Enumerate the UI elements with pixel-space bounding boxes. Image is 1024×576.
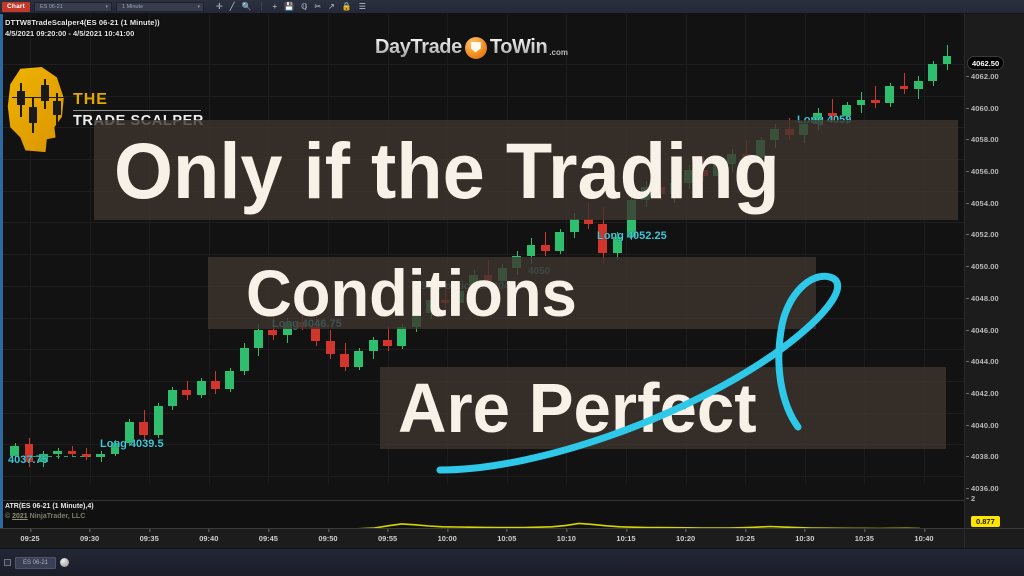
- atr-scale-label: 2: [971, 494, 975, 503]
- price-tick-label: 4048.00: [971, 294, 999, 303]
- candle-wick: [875, 86, 876, 108]
- copyright-year: 2021: [12, 513, 28, 520]
- candle-body: [240, 348, 249, 372]
- gridline-vertical: [328, 14, 329, 484]
- chevron-down-icon: ▾: [197, 4, 200, 10]
- candle-body: [225, 371, 234, 388]
- time-tick-label: 10:20: [676, 534, 695, 543]
- candle-body: [555, 232, 564, 251]
- cut-icon[interactable]: ✂: [314, 3, 321, 11]
- toolbar-icon-group: ✛ ╱ 🔍 + 💾 ℚ ✂ ↗ 🔒 ☰: [216, 2, 366, 11]
- candle-body: [154, 406, 163, 435]
- time-tick-label: 09:30: [80, 534, 99, 543]
- price-tick-label: 4054.00: [971, 199, 999, 208]
- price-tick-label: 4052.00: [971, 230, 999, 239]
- price-tick-label: 4056.00: [971, 167, 999, 176]
- price-tick-label: 4060.00: [971, 104, 999, 113]
- chart-left-edge-highlight: [0, 14, 3, 528]
- time-tick-label: 10:00: [438, 534, 457, 543]
- time-tick-label: 10:15: [616, 534, 635, 543]
- candle-body: [928, 64, 937, 81]
- candle-body: [340, 354, 349, 367]
- time-tick-label: 10:35: [855, 534, 874, 543]
- window-icon[interactable]: [4, 559, 11, 566]
- trade-signal-label: Long 4052.25: [597, 230, 667, 242]
- overlay-banner-line2: Conditions: [208, 257, 816, 329]
- status-indicator-icon: [60, 558, 69, 567]
- candle-body: [900, 86, 909, 89]
- overlay-text-line1: Only if the Trading: [114, 131, 780, 210]
- price-tick-label: 4040.00: [971, 421, 999, 430]
- time-tick-label: 10:25: [736, 534, 755, 543]
- price-tick-label: 4044.00: [971, 357, 999, 366]
- candle-body: [68, 451, 77, 454]
- time-tick-label: 09:40: [199, 534, 218, 543]
- copyright-suffix: NinjaTrader, LLC: [28, 513, 86, 520]
- price-tick-label: 4036.00: [971, 484, 999, 493]
- instrument-selector[interactable]: ES 06-21 ▾: [34, 2, 112, 12]
- instrument-selector-value: ES 06-21: [40, 4, 63, 10]
- daytradetowin-logo: DayTrade ToWin .com: [375, 36, 568, 59]
- chart-tab[interactable]: Chart: [2, 2, 30, 12]
- candle-wick: [904, 73, 905, 94]
- logo-divider: [73, 110, 201, 111]
- overlay-banner-line3: Are Perfect: [380, 367, 946, 449]
- time-axis[interactable]: 09:2509:3009:3509:4009:4509:5009:5510:00…: [0, 528, 964, 548]
- atr-indicator-panel: ATR(ES 06-21 (1 Minute),4) © 2021 NinjaT…: [0, 500, 964, 528]
- candle-body: [541, 245, 550, 251]
- candle-body: [383, 340, 392, 346]
- candle-body: [197, 381, 206, 395]
- interval-selector[interactable]: 1 Minute ▾: [116, 2, 204, 12]
- logo-trend-line: [12, 97, 68, 98]
- logo-candle-body: [17, 91, 25, 105]
- time-tick-label: 10:40: [914, 534, 933, 543]
- price-axis[interactable]: 4062.004060.004058.004056.004054.004052.…: [964, 14, 1024, 528]
- trend-icon[interactable]: ↗: [328, 3, 335, 11]
- save-icon[interactable]: 💾: [284, 3, 294, 11]
- gridline-vertical: [209, 14, 210, 484]
- chart-title: DTTW8TradeScalper4(ES 06-21 (1 Minute)): [5, 17, 160, 28]
- atr-line-series: [0, 501, 964, 528]
- head-silhouette-icon: [4, 67, 67, 153]
- price-tick-label: 4038.00: [971, 452, 999, 461]
- candle-body: [914, 81, 923, 89]
- time-tick-label: 09:35: [140, 534, 159, 543]
- logo-candle-body: [41, 85, 49, 101]
- logo-candle-body: [53, 101, 61, 115]
- list-icon[interactable]: ☰: [359, 3, 366, 11]
- chart-toolbar: Chart ES 06-21 ▾ 1 Minute ▾ ✛ ╱ 🔍 + 💾 ℚ …: [0, 0, 1024, 14]
- candle-body: [254, 330, 263, 347]
- chart-application: Chart ES 06-21 ▾ 1 Minute ▾ ✛ ╱ 🔍 + 💾 ℚ …: [0, 0, 1024, 576]
- line-tool-icon[interactable]: ╱: [230, 3, 235, 11]
- candle-body: [168, 390, 177, 406]
- atr-last-value-badge: 0.877: [971, 516, 1000, 527]
- price-tick-label: 4050.00: [971, 262, 999, 271]
- candle-body: [53, 451, 62, 454]
- lock-icon[interactable]: 🔒: [342, 3, 352, 11]
- overlay-text-line3: Are Perfect: [398, 373, 757, 443]
- candle-body: [211, 381, 220, 389]
- price-tick-label: 4058.00: [971, 135, 999, 144]
- logo-the-text: THE: [73, 91, 204, 108]
- status-bar: ES 06-21: [0, 548, 1024, 576]
- time-tick-label: 09:50: [318, 534, 337, 543]
- candle-body: [885, 86, 894, 103]
- shield-icon: [465, 37, 487, 59]
- axis-corner: [964, 528, 1024, 548]
- brand-towin-text: ToWin: [490, 36, 547, 59]
- toolbar-divider: [261, 2, 262, 11]
- overlay-banner-line1: Only if the Trading: [94, 120, 958, 220]
- candle-body: [857, 100, 866, 105]
- candle-body: [182, 390, 191, 395]
- time-tick-label: 10:05: [497, 534, 516, 543]
- chart-date-range: 4/5/2021 09:20:00 - 4/5/2021 10:41:00: [5, 28, 134, 39]
- atr-panel-label: ATR(ES 06-21 (1 Minute),4): [5, 503, 94, 510]
- price-tick-label: 4062.00: [971, 72, 999, 81]
- trade-signal-label: 4037.75: [8, 454, 48, 466]
- time-tick-label: 09:25: [20, 534, 39, 543]
- price-tick-label: 4042.00: [971, 389, 999, 398]
- f1-icon[interactable]: ℚ: [301, 3, 307, 11]
- time-tick-label: 10:30: [795, 534, 814, 543]
- trade-signal-label: Long 4039.5: [100, 438, 164, 450]
- brand-dotcom-text: .com: [549, 48, 568, 57]
- crosshair-icon[interactable]: ✛: [216, 3, 223, 11]
- candle-body: [871, 100, 880, 103]
- overlay-text-line2: Conditions: [246, 260, 577, 326]
- plus-icon[interactable]: +: [272, 3, 277, 11]
- candle-body: [354, 351, 363, 367]
- candle-body: [96, 454, 105, 457]
- statusbar-instrument[interactable]: ES 06-21: [15, 557, 56, 569]
- gridline-horizontal: [0, 476, 964, 477]
- ninjatrader-copyright: © 2021 NinjaTrader, LLC: [5, 513, 85, 520]
- time-tick-label: 09:55: [378, 534, 397, 543]
- brand-daytrade-text: DayTrade: [375, 36, 462, 59]
- candle-body: [326, 341, 335, 354]
- last-price-badge: 4062.50: [967, 56, 1004, 70]
- logo-candle-body: [29, 107, 37, 123]
- price-tick-label: 4046.00: [971, 326, 999, 335]
- candle-body: [369, 340, 378, 351]
- candle-body: [527, 245, 536, 256]
- magnifier-icon[interactable]: 🔍: [242, 3, 252, 11]
- time-tick-label: 09:45: [259, 534, 278, 543]
- gridline-horizontal: [0, 349, 964, 350]
- time-tick-label: 10:10: [557, 534, 576, 543]
- gridline-horizontal: [0, 222, 964, 223]
- candle-body: [268, 330, 277, 335]
- gridline-horizontal: [0, 254, 964, 255]
- candle-body: [570, 219, 579, 232]
- gridline-vertical: [268, 14, 269, 484]
- candle-body: [139, 422, 148, 435]
- interval-selector-value: 1 Minute: [122, 4, 143, 10]
- chevron-down-icon: ▾: [105, 4, 108, 10]
- candle-body: [943, 56, 952, 64]
